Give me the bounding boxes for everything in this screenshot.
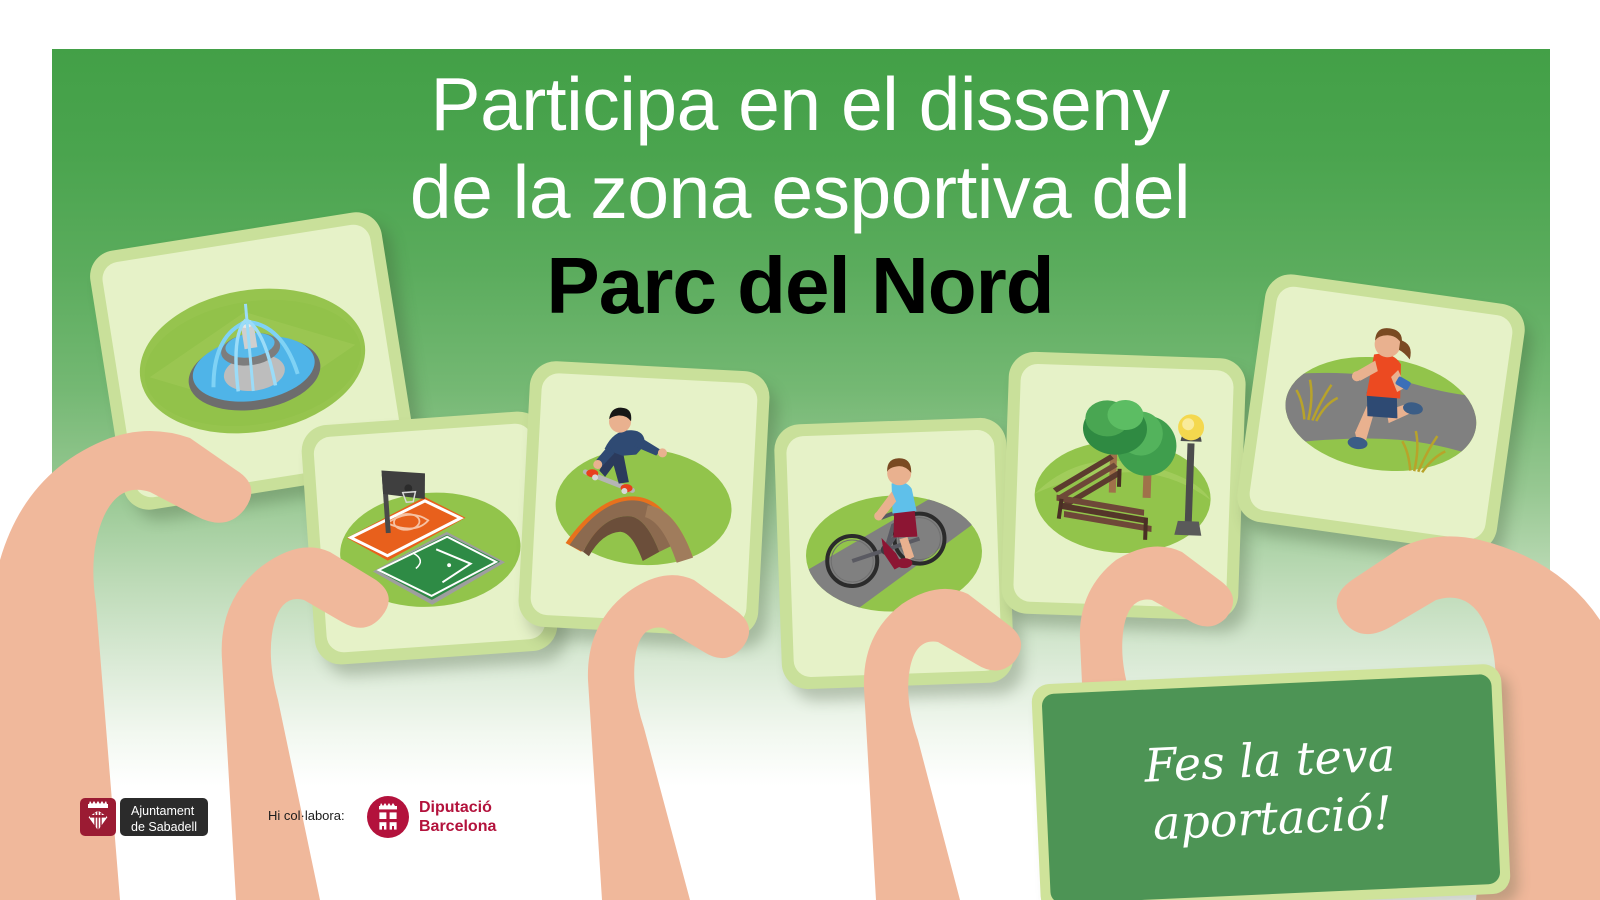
headline-line-2: de la zona esportiva del — [410, 150, 1190, 234]
collab-label: Hi col·labora: — [268, 808, 345, 823]
card-run-face — [1247, 285, 1514, 542]
diba-line-1: Diputació — [419, 798, 496, 817]
sabadell-shield-icon — [80, 798, 116, 836]
sports-courts-icon — [313, 423, 547, 654]
card-skate-face — [530, 373, 758, 626]
footer-logos: Ajuntament de Sabadell Hi col·labora: — [0, 786, 1600, 900]
card-cycling-path[interactable] — [773, 417, 1014, 690]
logo-ajuntament-sabadell[interactable]: Ajuntament de Sabadell — [80, 798, 208, 836]
diba-line-2: Barcelona — [419, 817, 496, 836]
cta-line-1: Fes la teva — [1143, 727, 1396, 792]
card-running-path[interactable] — [1234, 271, 1528, 555]
poster-root: Participa en el disseny de la zona espor… — [0, 0, 1600, 900]
running-path-icon — [1247, 285, 1514, 542]
logo-diputacio-barcelona[interactable]: Diputació Barcelona — [367, 796, 496, 838]
sabadell-line-1: Ajuntament — [131, 803, 197, 819]
card-sports-courts[interactable] — [300, 410, 559, 666]
card-courts-face — [313, 423, 547, 654]
skatepark-icon — [530, 373, 758, 626]
cycling-path-icon — [786, 429, 1002, 677]
sabadell-name: Ajuntament de Sabadell — [120, 798, 208, 836]
diba-name: Diputació Barcelona — [419, 798, 496, 836]
card-park-bench[interactable] — [1001, 351, 1247, 621]
headline-line-1: Participa en el disseny — [431, 62, 1170, 146]
card-bench-face — [1013, 363, 1234, 608]
park-bench-icon — [1013, 363, 1234, 608]
card-bike-face — [786, 429, 1002, 677]
diba-crown-icon — [367, 796, 409, 838]
sabadell-line-2: de Sabadell — [131, 819, 197, 835]
card-skatepark[interactable] — [517, 360, 771, 638]
